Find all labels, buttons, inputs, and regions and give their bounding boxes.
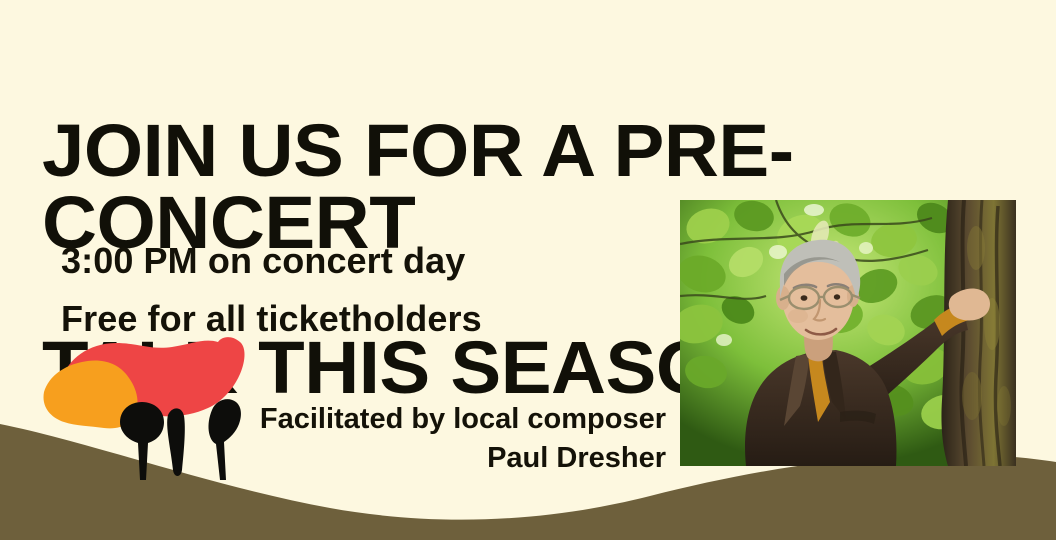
black-narrow-pod-icon <box>167 408 185 476</box>
poppy-flowers-decoration <box>22 330 292 480</box>
credit-line-2: Paul Dresher <box>246 439 666 478</box>
event-time-line: 3:00 PM on concert day <box>61 232 482 290</box>
credit-line-1: Facilitated by local composer <box>246 400 666 439</box>
cheek-shadow <box>788 309 808 323</box>
promo-banner: JOIN US FOR A PRE-CONCERT TALK THIS SEAS… <box>0 0 1056 540</box>
eye-right <box>834 294 840 299</box>
facilitator-credit: Facilitated by local composer Paul Dresh… <box>246 400 666 479</box>
eye-left <box>801 295 808 301</box>
presenter-photo <box>680 200 1016 466</box>
black-funnel-pod-icon <box>209 399 241 480</box>
black-bud-stem-icon <box>120 402 164 480</box>
